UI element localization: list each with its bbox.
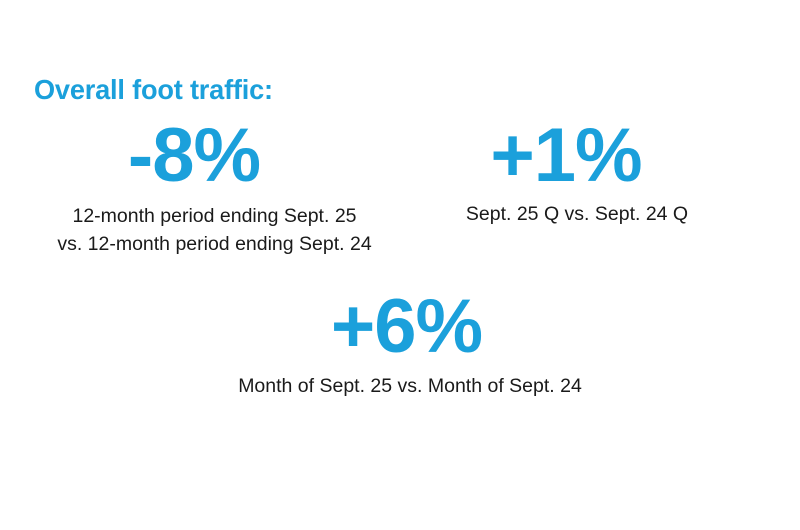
- stat-block-twelve-month: -8% 12-month period ending Sept. 25 vs. …: [0, 118, 430, 258]
- infographic-canvas: Overall foot traffic: -8% 12-month perio…: [0, 0, 800, 530]
- stat-caption-line-1: 12-month period ending Sept. 25: [0, 202, 430, 230]
- stat-block-month: +6% Month of Sept. 25 vs. Month of Sept.…: [192, 289, 626, 400]
- stat-caption-quarter: Sept. 25 Q vs. Sept. 24 Q: [416, 200, 738, 228]
- stat-value-twelve-month: -8%: [0, 118, 430, 194]
- stat-block-quarter: +1% Sept. 25 Q vs. Sept. 24 Q: [398, 118, 738, 228]
- stat-value-month: +6%: [187, 289, 626, 365]
- stat-caption-line-2: vs. 12-month period ending Sept. 24: [0, 230, 430, 258]
- stat-caption-line-1: Month of Sept. 25 vs. Month of Sept. 24: [194, 372, 626, 400]
- stat-caption-month: Month of Sept. 25 vs. Month of Sept. 24: [194, 372, 626, 400]
- stat-caption-twelve-month: 12-month period ending Sept. 25 vs. 12-m…: [0, 202, 430, 258]
- stat-caption-line-1: Sept. 25 Q vs. Sept. 24 Q: [416, 200, 738, 228]
- page-title: Overall foot traffic:: [34, 74, 273, 106]
- stat-value-quarter: +1%: [394, 118, 738, 194]
